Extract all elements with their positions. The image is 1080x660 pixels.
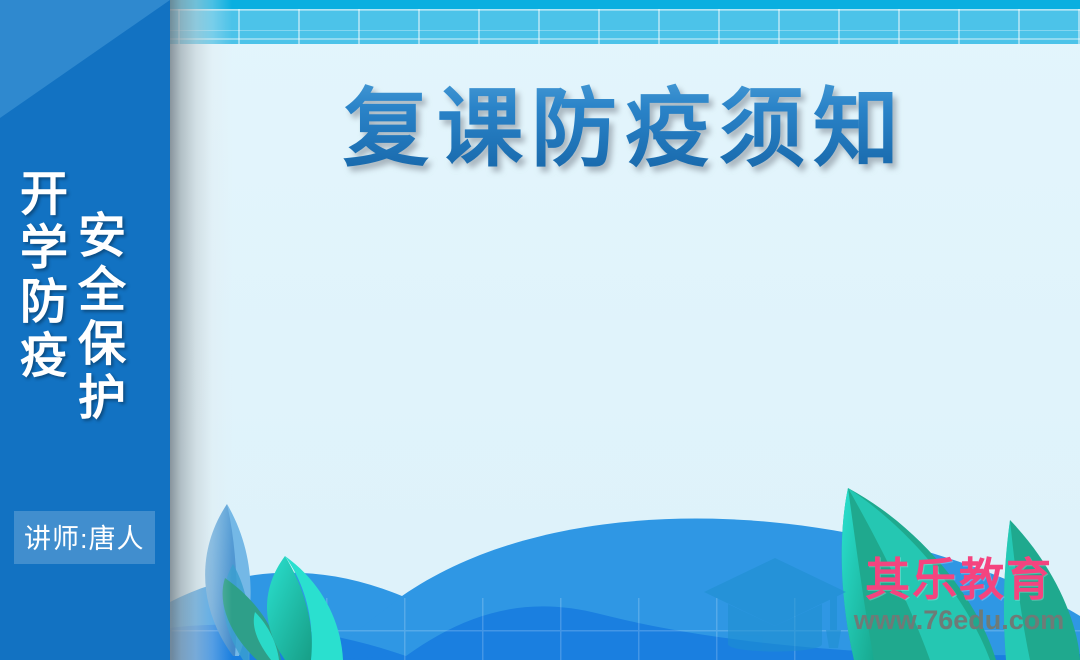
sidebar-vertical-line-2: 安全保护 xyxy=(72,210,120,426)
sidebar-accent-triangle xyxy=(0,0,170,118)
watermark-url: www.76edu.com xyxy=(838,605,1080,636)
speaker-label: 讲师:唐人 xyxy=(14,511,155,564)
sidebar-vertical-line-1: 开学防疫 xyxy=(14,168,62,384)
top-bar-accent-strip xyxy=(170,0,1080,9)
sidebar-vertical-title: 开学防疫 安全保护 xyxy=(0,150,170,430)
top-decorative-bar xyxy=(170,0,1080,44)
watermark-brand: 其乐教育 xyxy=(838,556,1080,603)
watermark: 其乐教育 www.76edu.com xyxy=(838,556,1080,636)
graduation-cap-icon xyxy=(700,552,850,660)
sidebar-panel: 开学防疫 安全保护 讲师:唐人 xyxy=(0,0,170,660)
presentation-slide: 开学防疫 安全保护 讲师:唐人 复课防疫须知 其乐教育 www.76edu.co… xyxy=(0,0,1080,660)
page-title: 复课防疫须知 xyxy=(170,58,1080,183)
